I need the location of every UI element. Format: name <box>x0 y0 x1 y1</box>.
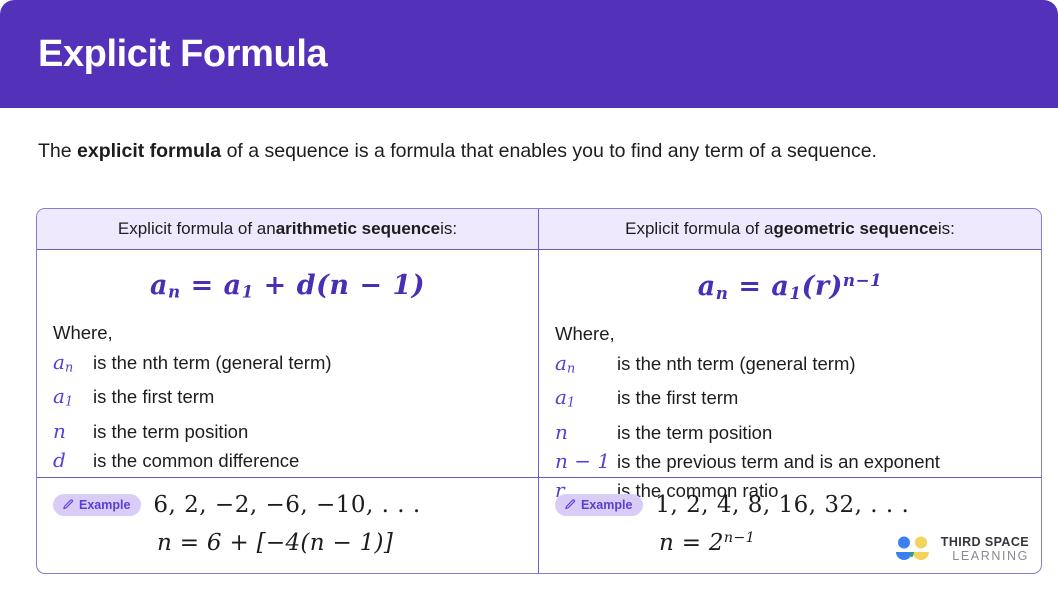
definition-text: is the first term <box>93 382 214 411</box>
definition-symbol: n <box>555 418 617 447</box>
geometric-where-label: Where, <box>555 319 1025 349</box>
definition-row: n is the term position <box>555 418 1025 447</box>
intro-paragraph: The explicit formula of a sequence is a … <box>0 108 1000 168</box>
table-body-row: an = a1 + d(n − 1) Where, an is the nth … <box>37 250 1041 477</box>
definition-text: is the previous term and is an exponent <box>617 447 940 476</box>
intro-text-part2: of a sequence is a formula that enables … <box>221 140 877 162</box>
arithmetic-where-label: Where, <box>53 318 522 348</box>
header-geo-bold: geometric sequence <box>773 219 937 239</box>
definition-text: is the first term <box>617 383 738 412</box>
table-header-geometric: Explicit formula of a geometric sequence… <box>539 209 1041 249</box>
geometric-example-cell: Example 1, 2, 4, 8, 16, 32, . . . n = 2n… <box>539 478 1041 573</box>
arithmetic-example-cell: Example 6, 2, −2, −6, −10, . . . n = 6 +… <box>37 478 539 573</box>
table-header-row: Explicit formula of an arithmetic sequen… <box>37 209 1041 250</box>
third-space-learning-logo: THIRD SPACE LEARNING <box>894 535 1029 563</box>
definition-symbol: an <box>53 348 93 383</box>
definition-symbol: a1 <box>555 383 617 418</box>
definition-text: is the common difference <box>93 446 299 475</box>
definition-row: d is the common difference <box>53 446 522 475</box>
arithmetic-example-formula: n = 6 + [−4(n − 1)] <box>53 518 522 556</box>
header-arith-post: is: <box>440 219 457 239</box>
logo-text: THIRD SPACE LEARNING <box>941 535 1029 563</box>
definition-symbol: d <box>53 446 93 475</box>
definition-text: is the term position <box>93 417 248 446</box>
definition-row: n is the term position <box>53 417 522 446</box>
table-header-arithmetic: Explicit formula of an arithmetic sequen… <box>37 209 539 249</box>
header-geo-pre: Explicit formula of a <box>625 219 773 239</box>
definition-symbol: a1 <box>53 382 93 417</box>
header-geo-post: is: <box>938 219 955 239</box>
example-badge: Example <box>555 494 643 516</box>
pencil-icon <box>564 499 576 511</box>
pencil-icon <box>62 499 74 511</box>
lesson-card: Explicit Formula The explicit formula of… <box>0 0 1058 599</box>
definition-row: a1 is the first term <box>555 383 1025 418</box>
intro-text-part1: The <box>38 140 77 162</box>
logo-line-2: LEARNING <box>941 549 1029 563</box>
arithmetic-column: an = a1 + d(n − 1) Where, an is the nth … <box>37 250 539 477</box>
page-title: Explicit Formula <box>38 33 327 76</box>
third-space-logo-mark <box>894 536 932 563</box>
definition-text: is the nth term (general term) <box>93 348 332 377</box>
definition-symbol: n <box>53 417 93 446</box>
geometric-column: an = a1(r)n−1 Where, an is the nth term … <box>539 250 1041 477</box>
definition-symbol: n − 1 <box>555 447 617 476</box>
intro-text-bold: explicit formula <box>77 140 221 162</box>
geometric-example-line: Example 1, 2, 4, 8, 16, 32, . . . <box>555 492 1025 518</box>
definition-symbol: an <box>555 349 617 384</box>
arithmetic-formula: an = a1 + d(n − 1) <box>53 262 522 318</box>
geometric-formula: an = a1(r)n−1 <box>555 262 1025 319</box>
logo-line-1: THIRD SPACE <box>941 535 1029 549</box>
definition-text: is the term position <box>617 418 772 447</box>
definition-row: n − 1 is the previous term and is an exp… <box>555 447 1025 476</box>
arithmetic-example-sequence: 6, 2, −2, −6, −10, . . . <box>153 492 420 518</box>
example-badge: Example <box>53 494 141 516</box>
table-example-row: Example 6, 2, −2, −6, −10, . . . n = 6 +… <box>37 477 1041 573</box>
header-arith-pre: Explicit formula of an <box>118 219 276 239</box>
definition-row: a1 is the first term <box>53 382 522 417</box>
geometric-example-sequence: 1, 2, 4, 8, 16, 32, . . . <box>655 492 909 518</box>
definition-text: is the nth term (general term) <box>617 349 856 378</box>
page-header: Explicit Formula <box>0 0 1058 108</box>
definition-row: an is the nth term (general term) <box>53 348 522 383</box>
header-arith-bold: arithmetic sequence <box>276 219 440 239</box>
arithmetic-example-line: Example 6, 2, −2, −6, −10, . . . <box>53 492 522 518</box>
example-badge-label: Example <box>581 498 632 512</box>
example-badge-label: Example <box>79 498 130 512</box>
definition-row: an is the nth term (general term) <box>555 349 1025 384</box>
formula-comparison-table: Explicit formula of an arithmetic sequen… <box>36 208 1042 574</box>
